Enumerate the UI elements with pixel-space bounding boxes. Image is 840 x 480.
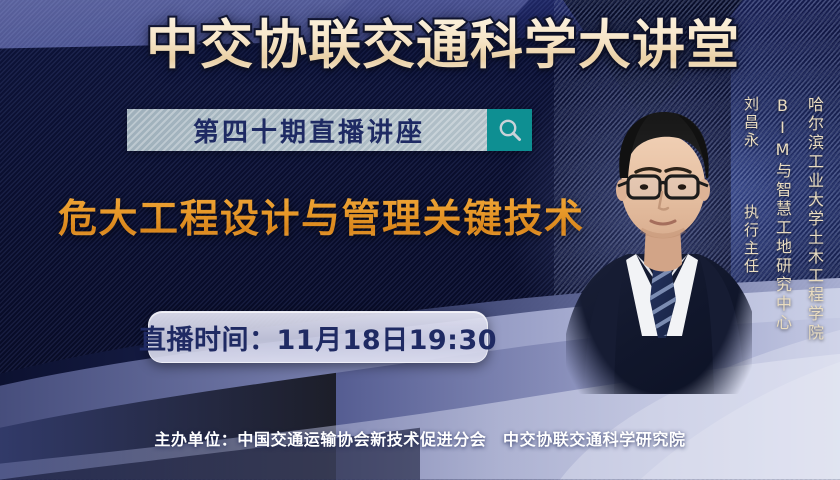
speaker-center: BIM与智慧工地研究中心 — [770, 96, 794, 333]
episode-banner-body: 第四十期直播讲座 — [127, 109, 487, 151]
broadcast-time-pill: 直播时间：11月18日19:30 — [148, 311, 488, 363]
speaker-title: 执行主任 — [742, 204, 760, 276]
episode-label: 第四十期直播讲座 — [189, 112, 425, 149]
live-lecture-poster: 中交协联交通科学大讲堂 中交协联交通科学大讲堂 第四十期直播讲座 危大工程设计与… — [0, 0, 840, 480]
search-icon — [497, 117, 523, 143]
broadcast-time-label: 直播时间：11月18日19:30 — [139, 318, 497, 357]
main-title: 中交协联交通科学大讲堂 — [146, 16, 740, 76]
organizer-label: 主办单位：中国交通运输协会新技术促进分会 中交协联交通科学研究院 — [154, 430, 685, 449]
speaker-name: 刘昌永 — [742, 96, 760, 150]
speaker-portrait — [566, 74, 752, 394]
speaker-credentials: 刘昌永 执行主任 BIM与智慧工地研究中心 哈尔滨工业大学土木工程学院 — [741, 96, 826, 343]
lecture-topic-headline: 危大工程设计与管理关键技术 — [58, 188, 585, 244]
episode-banner: 第四十期直播讲座 — [127, 109, 532, 151]
organizer-footer: 主办单位：中国交通运输协会新技术促进分会 中交协联交通科学研究院 — [0, 426, 840, 450]
search-button[interactable] — [487, 109, 532, 151]
speaker-affiliation: 哈尔滨工业大学土木工程学院 — [802, 96, 826, 343]
speaker-name-block: 刘昌永 执行主任 — [741, 96, 762, 276]
